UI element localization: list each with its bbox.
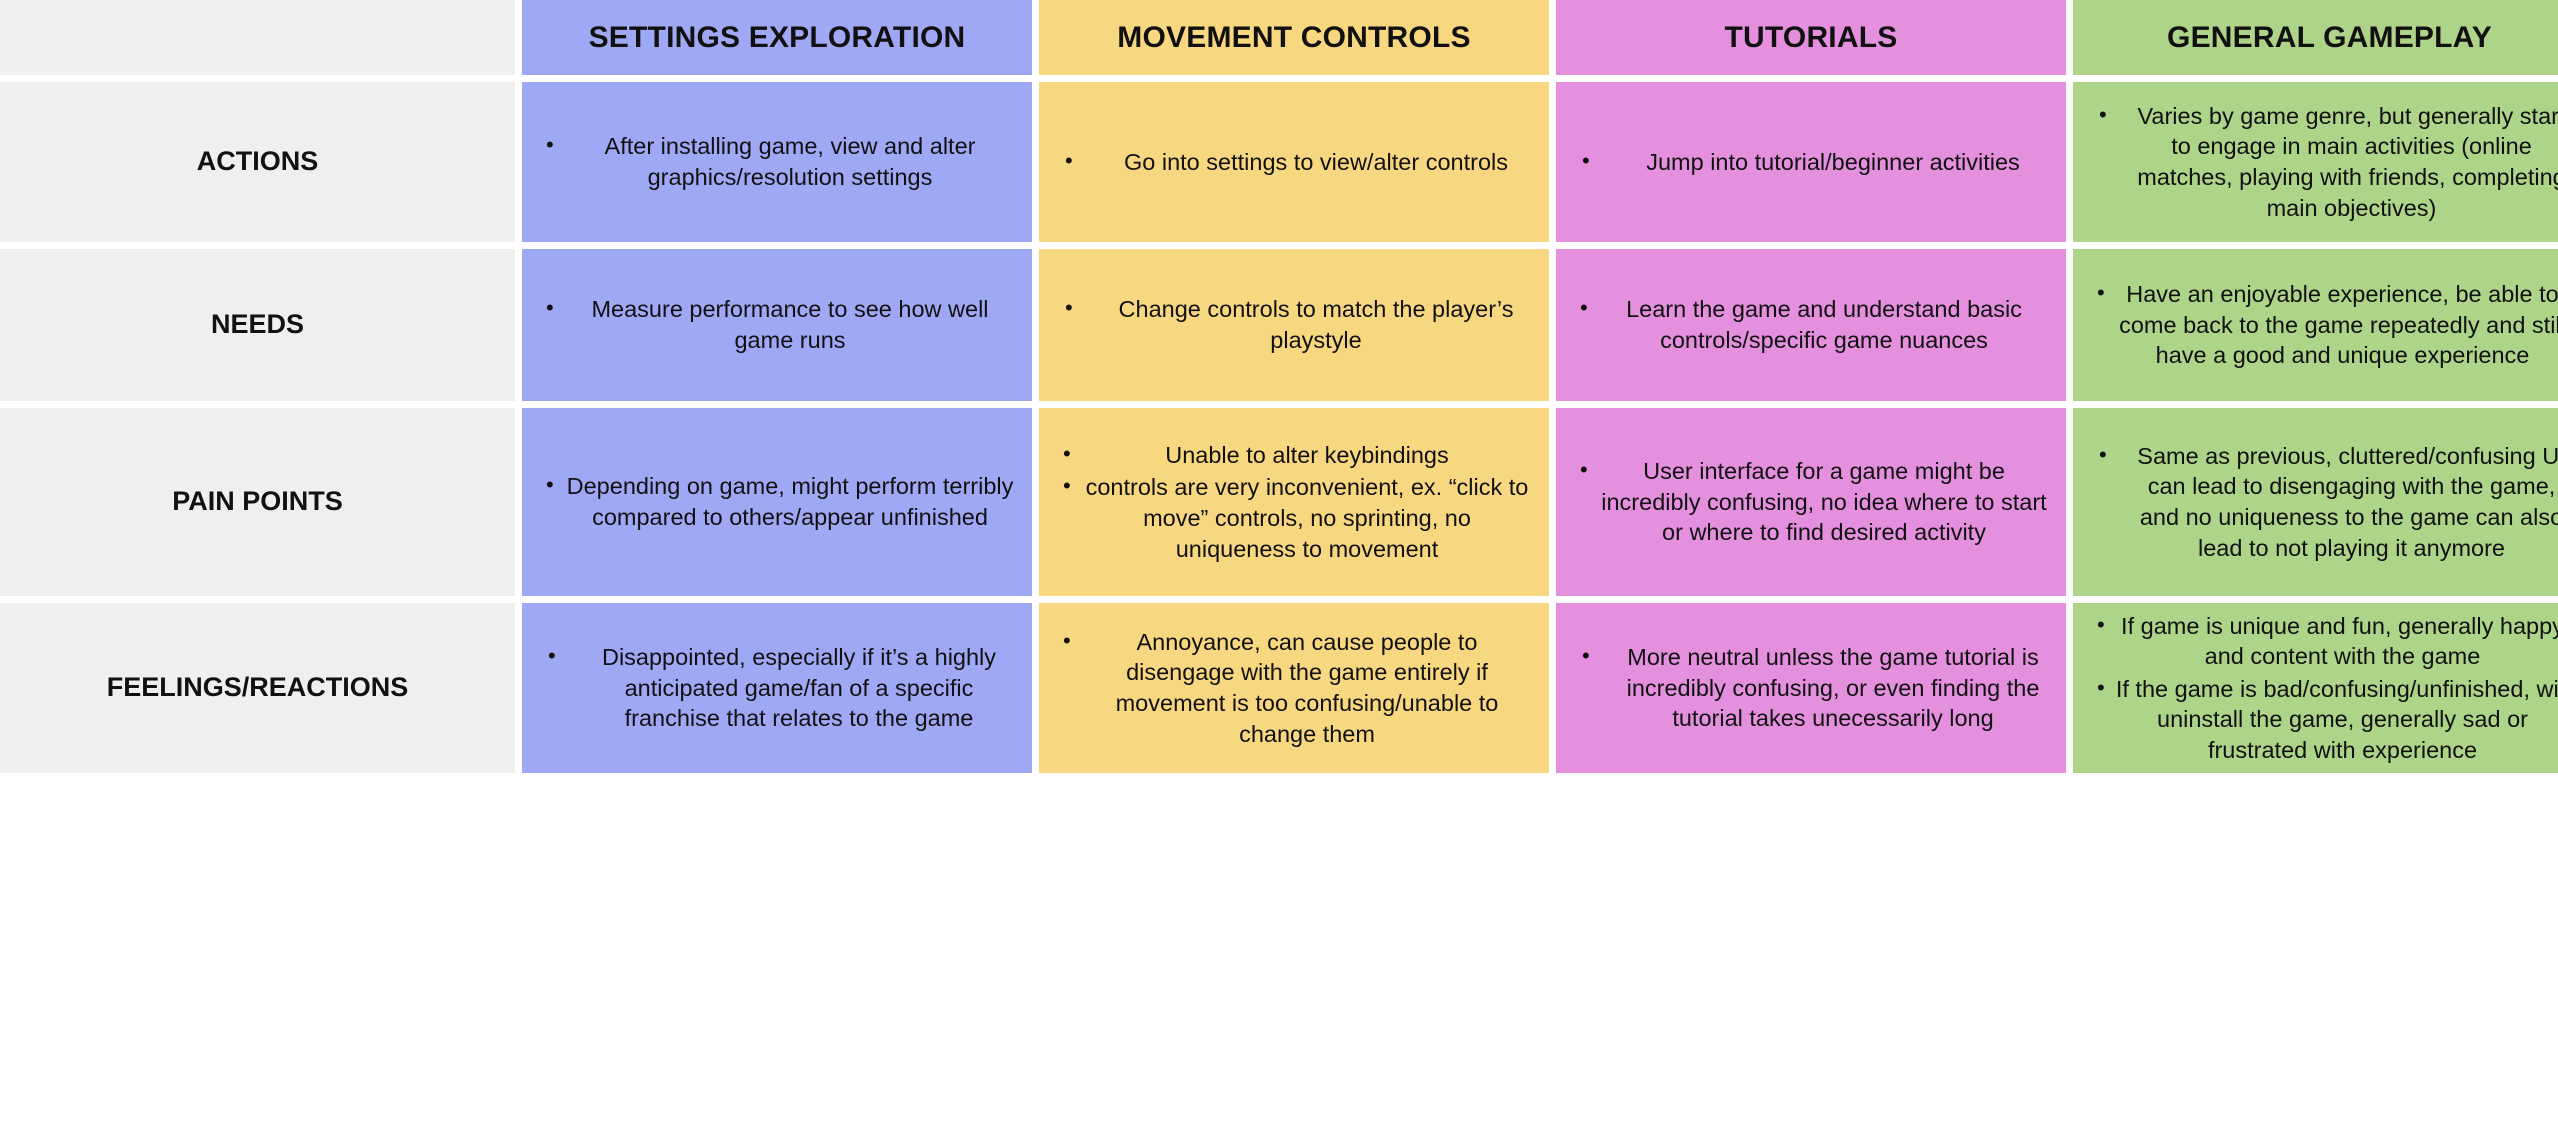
column-header-label: GENERAL GAMEPLAY xyxy=(2167,21,2492,54)
bullet-list: •Annoyance, can cause people to disengag… xyxy=(1055,627,1533,749)
list-item: •Disappointed, especially if it’s a high… xyxy=(538,642,1016,734)
list-item: •More neutral unless the game tutorial i… xyxy=(1572,642,2050,734)
bullet-icon: • xyxy=(1580,456,1588,485)
list-item: •Same as previous, cluttered/confusing U… xyxy=(2089,441,2558,563)
list-item: •Jump into tutorial/beginner activities xyxy=(1572,147,2050,178)
bullet-icon: • xyxy=(2097,674,2105,703)
list-item-text: Annoyance, can cause people to disengage… xyxy=(1116,629,1499,747)
bullet-list: •Measure performance to see how well gam… xyxy=(538,294,1016,355)
bullet-list: •Have an enjoyable experience, be able t… xyxy=(2089,279,2558,371)
column-header-settings-exploration[interactable]: SETTINGS EXPLORATION xyxy=(522,0,1032,75)
column-header-movement-controls[interactable]: MOVEMENT CONTROLS xyxy=(1039,0,1549,75)
bullet-list: •If game is unique and fun, generally ha… xyxy=(2089,611,2558,766)
bullet-icon: • xyxy=(1582,147,1590,176)
column-header-tutorials[interactable]: TUTORIALS xyxy=(1556,0,2066,75)
bullet-list: •Disappointed, especially if it’s a high… xyxy=(538,642,1016,734)
list-item-text: After installing game, view and alter gr… xyxy=(605,133,976,190)
column-header-label: MOVEMENT CONTROLS xyxy=(1117,21,1470,54)
list-item: •Annoyance, can cause people to disengag… xyxy=(1055,627,1533,749)
bullet-icon: • xyxy=(2099,441,2107,470)
cell-pain-points-tutorials[interactable]: •User interface for a game might be incr… xyxy=(1556,408,2066,596)
cell-needs-movement-controls[interactable]: •Change controls to match the player’s p… xyxy=(1039,249,1549,401)
bullet-icon: • xyxy=(1580,294,1588,323)
list-item: •Have an enjoyable experience, be able t… xyxy=(2089,279,2558,371)
list-item-text: Varies by game genre, but generally star… xyxy=(2137,103,2558,221)
bullet-icon: • xyxy=(1065,147,1073,176)
list-item: •Depending on game, might perform terrib… xyxy=(538,471,1016,532)
list-item-text: Have an enjoyable experience, be able to… xyxy=(2119,281,2558,368)
bullet-icon: • xyxy=(2097,279,2105,308)
list-item: •Go into settings to view/alter controls xyxy=(1055,147,1533,178)
cell-actions-general-gameplay[interactable]: •Varies by game genre, but generally sta… xyxy=(2073,82,2558,242)
list-item: •Learn the game and understand basic con… xyxy=(1572,294,2050,355)
list-item-text: Depending on game, might perform terribl… xyxy=(567,473,1014,530)
list-item-text: controls are very inconvenient, ex. “cli… xyxy=(1086,474,1529,561)
bullet-list: •Same as previous, cluttered/confusing U… xyxy=(2089,441,2558,563)
bullet-icon: • xyxy=(1063,472,1071,501)
matrix-corner-cell xyxy=(0,0,515,75)
cell-needs-tutorials[interactable]: •Learn the game and understand basic con… xyxy=(1556,249,2066,401)
bullet-list: •Unable to alter keybindings •controls a… xyxy=(1055,440,1533,564)
bullet-icon: • xyxy=(548,642,556,671)
bullet-icon: • xyxy=(2097,611,2105,640)
list-item: •Change controls to match the player’s p… xyxy=(1055,294,1533,355)
bullet-list: •Depending on game, might perform terrib… xyxy=(538,471,1016,532)
bullet-icon: • xyxy=(1582,642,1590,671)
row-header-label: ACTIONS xyxy=(197,146,319,177)
cell-feelings-reactions-movement-controls[interactable]: •Annoyance, can cause people to disengag… xyxy=(1039,603,1549,773)
bullet-list: •Change controls to match the player’s p… xyxy=(1055,294,1533,355)
bullet-list: •After installing game, view and alter g… xyxy=(538,131,1016,192)
list-item: •controls are very inconvenient, ex. “cl… xyxy=(1055,472,1533,564)
cell-feelings-reactions-general-gameplay[interactable]: •If game is unique and fun, generally ha… xyxy=(2073,603,2558,773)
list-item: •Unable to alter keybindings xyxy=(1055,440,1533,471)
cell-feelings-reactions-tutorials[interactable]: •More neutral unless the game tutorial i… xyxy=(1556,603,2066,773)
bullet-icon: • xyxy=(2099,101,2107,130)
list-item-text: Learn the game and understand basic cont… xyxy=(1626,296,2022,353)
cell-actions-movement-controls[interactable]: •Go into settings to view/alter controls xyxy=(1039,82,1549,242)
bullet-icon: • xyxy=(1065,294,1073,323)
column-header-label: SETTINGS EXPLORATION xyxy=(589,21,966,54)
bullet-list: •Jump into tutorial/beginner activities xyxy=(1572,147,2050,178)
bullet-list: •User interface for a game might be incr… xyxy=(1572,456,2050,548)
bullet-icon: • xyxy=(546,471,554,500)
row-header-label: NEEDS xyxy=(211,309,304,340)
cell-pain-points-settings-exploration[interactable]: •Depending on game, might perform terrib… xyxy=(522,408,1032,596)
column-header-general-gameplay[interactable]: GENERAL GAMEPLAY xyxy=(2073,0,2558,75)
list-item-text: Disappointed, especially if it’s a highl… xyxy=(602,644,996,731)
list-item: •If game is unique and fun, generally ha… xyxy=(2089,611,2558,672)
list-item-text: If game is unique and fun, generally hap… xyxy=(2121,613,2558,670)
list-item-text: Measure performance to see how well game… xyxy=(591,296,988,353)
journey-map-matrix: SETTINGS EXPLORATION MOVEMENT CONTROLS T… xyxy=(0,0,2558,773)
list-item: •User interface for a game might be incr… xyxy=(1572,456,2050,548)
list-item: •If the game is bad/confusing/unfinished… xyxy=(2089,674,2558,766)
list-item-text: Go into settings to view/alter controls xyxy=(1124,149,1508,175)
row-header-label: PAIN POINTS xyxy=(172,486,343,517)
bullet-list: •Varies by game genre, but generally sta… xyxy=(2089,101,2558,223)
cell-actions-settings-exploration[interactable]: •After installing game, view and alter g… xyxy=(522,82,1032,242)
list-item-text: User interface for a game might be incre… xyxy=(1601,458,2046,545)
bullet-icon: • xyxy=(546,131,554,160)
row-header-feelings-reactions: FEELINGS/REACTIONS xyxy=(0,603,515,773)
row-header-needs: NEEDS xyxy=(0,249,515,401)
bullet-list: •Learn the game and understand basic con… xyxy=(1572,294,2050,355)
cell-needs-settings-exploration[interactable]: •Measure performance to see how well gam… xyxy=(522,249,1032,401)
list-item-text: Jump into tutorial/beginner activities xyxy=(1646,149,2020,175)
list-item-text: More neutral unless the game tutorial is… xyxy=(1627,644,2040,731)
list-item-text: Unable to alter keybindings xyxy=(1165,442,1448,468)
row-header-actions: ACTIONS xyxy=(0,82,515,242)
cell-needs-general-gameplay[interactable]: •Have an enjoyable experience, be able t… xyxy=(2073,249,2558,401)
cell-pain-points-general-gameplay[interactable]: •Same as previous, cluttered/confusing U… xyxy=(2073,408,2558,596)
cell-actions-tutorials[interactable]: •Jump into tutorial/beginner activities xyxy=(1556,82,2066,242)
list-item: •Varies by game genre, but generally sta… xyxy=(2089,101,2558,223)
bullet-list: •Go into settings to view/alter controls xyxy=(1055,147,1533,178)
list-item-text: Change controls to match the player’s pl… xyxy=(1119,296,1514,353)
column-header-label: TUTORIALS xyxy=(1725,21,1898,54)
list-item-text: If the game is bad/confusing/unfinished,… xyxy=(2116,676,2558,763)
list-item: •Measure performance to see how well gam… xyxy=(538,294,1016,355)
list-item-text: Same as previous, cluttered/confusing UI… xyxy=(2137,443,2558,561)
row-header-pain-points: PAIN POINTS xyxy=(0,408,515,596)
bullet-icon: • xyxy=(1063,440,1071,469)
bullet-list: •More neutral unless the game tutorial i… xyxy=(1572,642,2050,734)
cell-pain-points-movement-controls[interactable]: •Unable to alter keybindings •controls a… xyxy=(1039,408,1549,596)
bullet-icon: • xyxy=(1063,627,1071,656)
list-item: •After installing game, view and alter g… xyxy=(538,131,1016,192)
row-header-label: FEELINGS/REACTIONS xyxy=(107,672,409,703)
cell-feelings-reactions-settings-exploration[interactable]: •Disappointed, especially if it’s a high… xyxy=(522,603,1032,773)
bullet-icon: • xyxy=(546,294,554,323)
